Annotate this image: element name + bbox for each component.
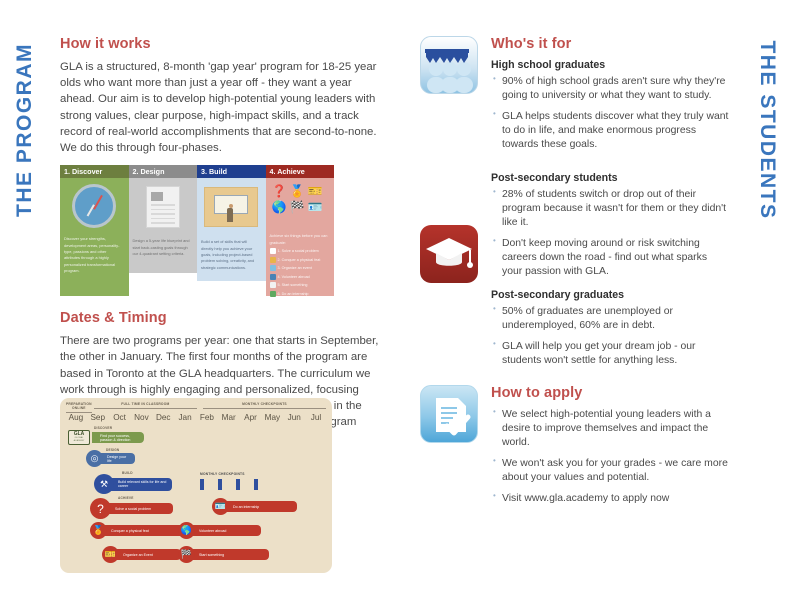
month-label: Feb [196,413,218,422]
checkpoint-mark [200,479,204,490]
apply-bullets: We select high-potential young leaders w… [493,408,730,506]
caption-rule [203,408,326,409]
whos-it-for-body: Who's it for High school graduates 90% o… [491,36,730,159]
medal-icon [270,257,276,263]
timeline-caption-classroom: FULL TIME IN CLASSROOM [94,402,197,413]
timeline-row-text: Solve a social problem [115,507,151,511]
classroom-icon [201,187,262,239]
timeline-row-text: Find your success, passion & direction [100,434,140,442]
question-icon: ? [90,498,111,519]
caption-rule [94,408,197,409]
tools-icon: ⚒ [94,474,114,494]
timeline-row-start: 🏁 Start something [178,546,269,563]
timeline-row-event: 🎫 Organize an Event [102,546,181,563]
flag-icon [270,282,276,288]
post-secondary-body: Post-secondary students 28% of students … [491,163,730,374]
medal-icon: 🏅 [290,184,305,197]
post-secondary-block: Post-secondary students 28% of students … [420,163,730,374]
timeline-row-solve: ? Solve a social problem [90,498,173,519]
month-label: Apr [240,413,262,422]
graduates-group-icon [420,36,478,94]
question-icon: ❓ [272,184,287,197]
ticket-icon [270,265,276,271]
timeline-row-text: Organize an Event [123,553,153,557]
checkpoint-mark [218,479,222,490]
right-column: Who's it for High school graduates 90% o… [420,36,730,513]
left-column: How it works GLA is a structured, 8-mont… [60,36,380,446]
ticket-icon: 🎫 [102,546,119,563]
document-icon [133,186,194,238]
bullet-item: Don't keep moving around or risk switchi… [493,237,730,279]
target-icon: ◎ [86,450,103,467]
achieve-item-label: 1. Solve a social problem [278,249,319,253]
how-to-apply-block: How to apply We select high-potential yo… [420,385,730,513]
timeline-header: PREPARATION ONLINE FULL TIME IN CLASSROO… [60,398,332,424]
timeline-row-text: Conquer a physical feat [111,529,149,533]
month-label: Dec [152,413,174,422]
compass-icon [64,184,125,236]
achieve-item-list: 1. Solve a social problem 2. Conquer a p… [270,248,331,297]
bullet-item-link[interactable]: Visit www.gla.academy to apply now [493,492,730,506]
bullet-item: GLA will help you get your dream job - o… [493,340,730,368]
bullet-item: 50% of graduates are unemployed or under… [493,305,730,333]
phase-build-text: Build a set of skills that will directly… [201,239,262,271]
timeline-caption-label: PREPARATION ONLINE [66,402,92,410]
month-label: Aug [65,413,87,422]
bullet-item: GLA helps students discover what they tr… [493,110,730,152]
whos-it-for-heading: Who's it for [491,36,730,52]
highschool-bullets: 90% of high school grads aren't sure why… [493,75,730,152]
achieve-item: 1. Solve a social problem [270,248,331,254]
month-label: May [261,413,283,422]
dates-heading: Dates & Timing [60,310,380,326]
badge-icon: 🪪 [212,498,229,515]
timeline-row-text: Build relevant skills for life and caree… [118,480,168,488]
timeline-row-text: Do an internship [233,505,259,509]
phase-discover: 1. Discover Discover your strengths, dev… [60,165,129,296]
bullet-item: 28% of students switch or drop out of th… [493,188,730,230]
phase-achieve: 4. Achieve ❓ 🏅 🎫 🌎 🏁 🪪 Achieve six thing… [266,165,335,296]
graduates-bullets: 50% of graduates are unemployed or under… [493,305,730,368]
achieve-item-label: 3. Organize an event [278,266,312,270]
month-label: Sep [87,413,109,422]
achieve-item: 4. Volunteer abroad [270,274,331,280]
group-title-students: Post-secondary students [491,172,730,184]
how-it-works-heading: How it works [60,36,380,52]
achievement-icons: ❓ 🏅 🎫 🌎 🏁 🪪 [270,181,331,233]
achieve-item: 3. Organize an event [270,265,331,271]
medal-icon: 🏅 [90,522,107,539]
timeline-row-internship: 🪪 Do an internship [212,498,297,515]
achieve-item: 2. Conquer a physical feat [270,257,331,263]
timeline-row-build: ⚒ Build relevant skills for life and car… [94,474,172,494]
bullet-item: We select high-potential young leaders w… [493,408,730,450]
month-label: Jan [174,413,196,422]
achieve-item-label: 4. Volunteer abroad [278,275,310,279]
flag-icon: 🏁 [178,546,195,563]
checkpoint-marks [200,479,258,490]
document-check-icon [420,385,478,443]
checkpoints-title: MONTHLY CHECKPOINTS [200,472,258,476]
badge-icon: 🪪 [308,200,323,213]
group-title-highschool: High school graduates [491,59,730,71]
how-it-works-paragraph-2: We do this through four-phases. [60,140,380,156]
phase-design-title: 2. Design [129,165,198,178]
globe-icon: 🌎 [272,200,287,213]
phase-discover-text: Discover your strengths, development are… [64,236,125,275]
checkpoint-mark [254,479,258,490]
timeline-row-volunteer: 🌎 Volunteer abroad [178,522,261,539]
checkpoint-mark [236,479,240,490]
how-it-works-paragraph: GLA is a structured, 8-month 'gap year' … [60,59,380,140]
side-title-students: THE STUDENTS [755,40,779,220]
timeline-row-design: ◎ Design your life [86,450,135,467]
achieve-item-label: 2. Conquer a physical feat [278,258,321,262]
phase-design-text: Design a 5-year life blueprint and start… [133,238,194,257]
month-label: Mar [218,413,240,422]
timeline-caption-checkpoints: MONTHLY CHECKPOINTS [203,402,326,413]
question-icon [270,248,276,254]
brochure-page: THE PROGRAM THE STUDENTS How it works GL… [0,0,792,612]
timeline-caption-label: MONTHLY CHECKPOINTS [203,402,326,406]
phases-panel: 1. Discover Discover your strengths, dev… [60,165,334,296]
gla-badge-icon: GLA GLOBAL ACADEMY [68,430,90,445]
month-label: Jul [305,413,327,422]
bullet-item: 90% of high school grads aren't sure why… [493,75,730,103]
phase-build: 3. Build Build a set of skills that will… [197,165,266,296]
timeline-caption-prep: PREPARATION ONLINE [66,402,92,413]
month-label: Oct [109,413,131,422]
flag-icon: 🏁 [290,200,305,213]
group-title-graduates: Post-secondary graduates [491,289,730,301]
bullet-item: We won't ask you for your grades - we ca… [493,457,730,485]
monthly-checkpoints: MONTHLY CHECKPOINTS [200,472,258,490]
timeline-months: Aug Sep Oct Nov Dec Jan Feb Mar Apr May … [60,413,332,422]
globe-icon [270,274,276,280]
month-label: Nov [130,413,152,422]
achieve-item-label: 6. Do an internship [278,292,309,296]
timeline-row-discover: GLA GLOBAL ACADEMY Find your success, pa… [68,430,144,445]
how-to-apply-body: How to apply We select high-potential yo… [491,385,730,513]
phase-design: 2. Design Design a 5-year life blueprint… [129,165,198,296]
how-to-apply-heading: How to apply [491,385,730,401]
gla-badge-sub: ACADEMY [74,440,85,443]
timeline-row-text: Start something [199,553,224,557]
achieve-item: 6. Do an internship [270,291,331,297]
phase-achieve-title: 4. Achieve [266,165,335,178]
phase-build-title: 3. Build [197,165,266,178]
phase-discover-title: 1. Discover [60,165,129,178]
side-title-program: THE PROGRAM [13,40,37,220]
globe-icon: 🌎 [178,522,195,539]
graduation-cap-icon [420,225,478,283]
timeline-row-text: Design your life [107,455,131,463]
timeline-caption-label: FULL TIME IN CLASSROOM [94,402,197,406]
achieve-item-label: 5. Start something [278,283,308,287]
achieve-item: 5. Start something [270,282,331,288]
timeline-rows: DISCOVER GLA GLOBAL ACADEMY Find your su… [60,424,332,566]
timeline-row-text: Volunteer abroad [199,529,226,533]
whos-it-for-block: Who's it for High school graduates 90% o… [420,36,730,159]
students-bullets: 28% of students switch or drop out of th… [493,188,730,279]
phase-achieve-text: Achieve six things before you can gradua… [270,233,331,246]
badge-icon [270,291,276,297]
caption-rule [66,412,92,413]
ticket-icon: 🎫 [308,184,323,197]
month-label: Jun [283,413,305,422]
timeline-infographic: PREPARATION ONLINE FULL TIME IN CLASSROO… [60,398,332,573]
